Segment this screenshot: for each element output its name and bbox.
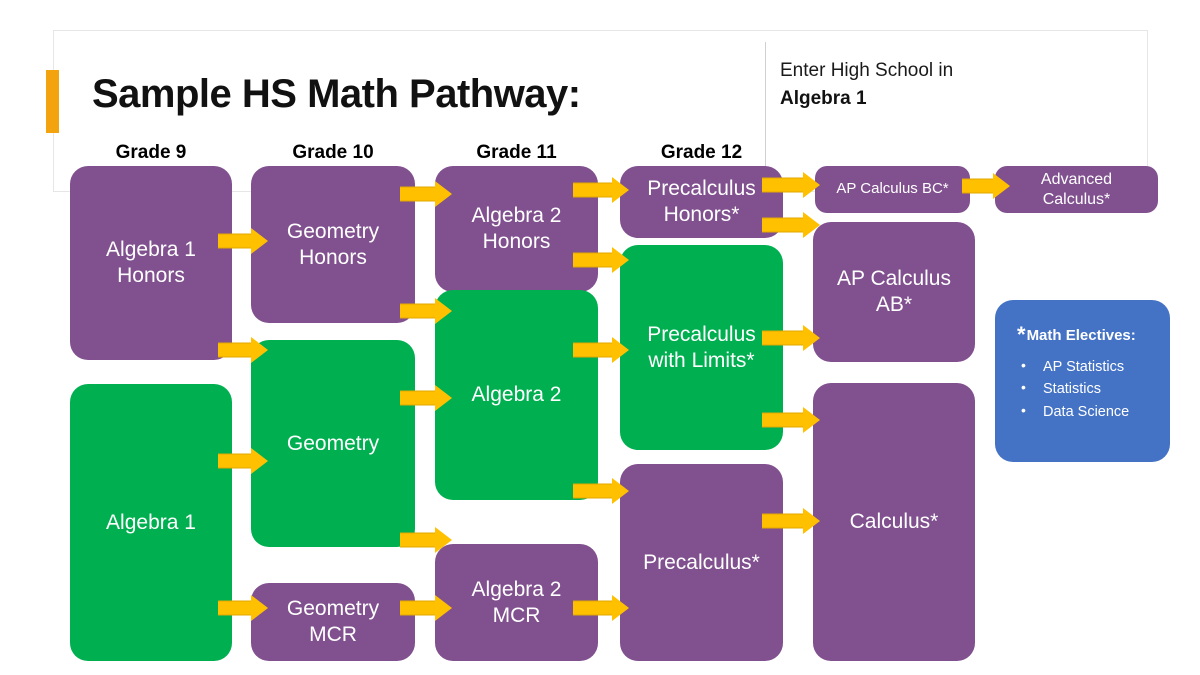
course-label: AP CalculusAB* [837, 266, 951, 317]
entry-note-line2: Algebra 1 [780, 88, 867, 110]
page-title: Sample HS Math Pathway: [92, 72, 581, 117]
math-electives-title: *Math Electives: [1017, 322, 1160, 348]
arrow-alg1h-to-geo [218, 337, 268, 363]
course-label: Precalculuswith Limits* [647, 322, 756, 373]
arrow-geoh-to-alg2 [400, 298, 452, 324]
asterisk-icon: * [1017, 322, 1026, 347]
arrow-precalclimits-to-calculus [762, 407, 820, 433]
pathway-diagram: Sample HS Math Pathway: Enter High Schoo… [0, 0, 1200, 675]
course-label: AP Calculus BC* [836, 180, 948, 198]
arrow-geo-to-alg2mcr [400, 527, 452, 553]
arrow-alg2-to-precalclimits [573, 337, 629, 363]
arrow-precalch-to-apab [762, 212, 820, 238]
course-label: Algebra 1Honors [106, 237, 196, 288]
course-label: Algebra 1 [106, 510, 196, 536]
arrow-geoh-to-alg2h [400, 181, 452, 207]
course-label: Calculus* [850, 509, 939, 535]
arrow-alg2h-to-precalch [573, 177, 629, 203]
elective-item: Statistics [1021, 378, 1160, 400]
course-label: PrecalculusHonors* [647, 176, 756, 227]
arrow-alg2mcr-to-precalc [573, 595, 629, 621]
course-label: GeometryMCR [287, 596, 379, 647]
arrow-alg1h-to-geoh [218, 228, 268, 254]
arrow-geomcr-to-alg2mcr [400, 595, 452, 621]
arrow-alg2-to-precalc [573, 478, 629, 504]
grade-header-10: Grade 10 [251, 142, 415, 164]
arrow-alg1-to-geomcr [218, 595, 268, 621]
arrow-precalclimits-to-apab [762, 325, 820, 351]
course-box-precalculus[interactable]: Precalculus* [620, 464, 783, 661]
grade-header-9: Grade 9 [70, 142, 232, 164]
arrow-precalch-to-apbc [762, 172, 820, 198]
arrow-geo-to-alg2 [400, 385, 452, 411]
course-box-algebra2[interactable]: Algebra 2 [435, 290, 598, 500]
math-electives-list: AP Statistics Statistics Data Science [1007, 356, 1160, 423]
grade-header-11: Grade 11 [435, 142, 598, 164]
course-box-precalculus-honors[interactable]: PrecalculusHonors* [620, 166, 783, 238]
course-label: GeometryHonors [287, 219, 379, 270]
course-box-algebra1-honors[interactable]: Algebra 1Honors [70, 166, 232, 360]
course-label: Algebra 2 [472, 382, 562, 408]
arrow-alg2h-to-precalclimits [573, 247, 629, 273]
arrow-precalc-to-calculus [762, 508, 820, 534]
course-box-algebra1[interactable]: Algebra 1 [70, 384, 232, 661]
course-box-precalculus-with-limits[interactable]: Precalculuswith Limits* [620, 245, 783, 450]
course-box-geometry-honors[interactable]: GeometryHonors [251, 166, 415, 323]
course-box-geometry[interactable]: Geometry [251, 340, 415, 547]
math-electives-title-text: Math Electives: [1027, 327, 1136, 344]
course-label: AdvancedCalculus* [1041, 170, 1112, 209]
course-label: Precalculus* [643, 550, 760, 576]
arrow-alg1-to-geo [218, 448, 268, 474]
course-label: Algebra 2MCR [472, 577, 562, 628]
course-box-advanced-calculus[interactable]: AdvancedCalculus* [995, 166, 1158, 213]
course-box-geometry-mcr[interactable]: GeometryMCR [251, 583, 415, 661]
course-box-calculus[interactable]: Calculus* [813, 383, 975, 661]
grade-header-12: Grade 12 [620, 142, 783, 164]
course-box-ap-calculus-ab[interactable]: AP CalculusAB* [813, 222, 975, 362]
math-electives-panel: *Math Electives: AP Statistics Statistic… [995, 300, 1170, 462]
elective-item: AP Statistics [1021, 356, 1160, 378]
elective-item: Data Science [1021, 401, 1160, 423]
title-accent-bar [46, 70, 59, 133]
course-label: Algebra 2Honors [472, 203, 562, 254]
entry-note-line1: Enter High School in [780, 60, 953, 82]
course-box-ap-calculus-bc[interactable]: AP Calculus BC* [815, 166, 970, 213]
arrow-apbc-to-advcalc [962, 173, 1010, 199]
course-label: Geometry [287, 431, 379, 457]
